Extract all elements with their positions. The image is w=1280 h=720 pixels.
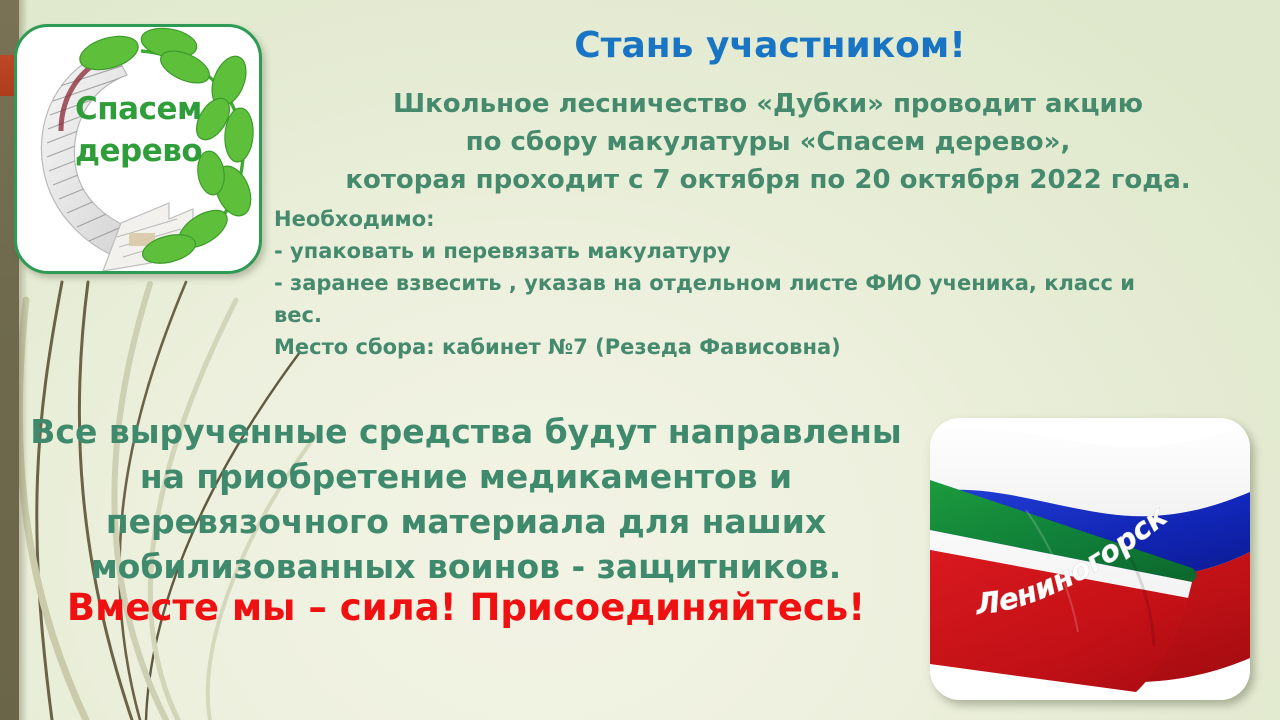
instructions-block: Необходимо: - упаковать и перевязать мак… [274, 203, 1274, 363]
poster-slide: Спасем дерево [0, 0, 1280, 720]
leninogorsk-flag-icon: Лениногорск [930, 418, 1250, 700]
subheading-line: которая проходит с 7 октября по 20 октяб… [264, 161, 1272, 199]
instructions-line: Место сбора: кабинет №7 (Резеда Фависовн… [274, 331, 1274, 363]
pledge-line: на приобретение медикаментов и [6, 454, 926, 499]
subheading-line: по сбору макулатуры «Спасем дерево», [264, 123, 1272, 161]
pledge-line: перевязочного материала для наших [6, 499, 926, 544]
page-title: Стань участником! [270, 27, 1270, 65]
instructions-line: - упаковать и перевязать макулатуру [274, 235, 1274, 267]
instructions-line: Необходимо: [274, 203, 1274, 235]
call-to-action: Вместе мы – сила! Присоединяйтесь! [6, 585, 926, 631]
save-a-tree-logo-card: Спасем дерево [14, 24, 262, 274]
instructions-line: - заранее взвесить , указав на отдельном… [274, 267, 1274, 299]
pledge-line: мобилизованных воинов - защитников. [6, 544, 926, 589]
instructions-line: вес. [274, 299, 1274, 331]
pledge-block: Все вырученные средства будут направлены… [6, 409, 926, 589]
logo-text: Спасем дерево [75, 89, 245, 173]
leninogorsk-flag-card: Лениногорск [930, 418, 1250, 700]
subheading-block: Школьное лесничество «Дубки» проводит ак… [264, 85, 1272, 199]
logo-text-line2: дерево [75, 131, 245, 173]
logo-text-line1: Спасем [75, 89, 245, 131]
subheading-line: Школьное лесничество «Дубки» проводит ак… [264, 85, 1272, 123]
pledge-line: Все вырученные средства будут направлены [6, 409, 926, 454]
